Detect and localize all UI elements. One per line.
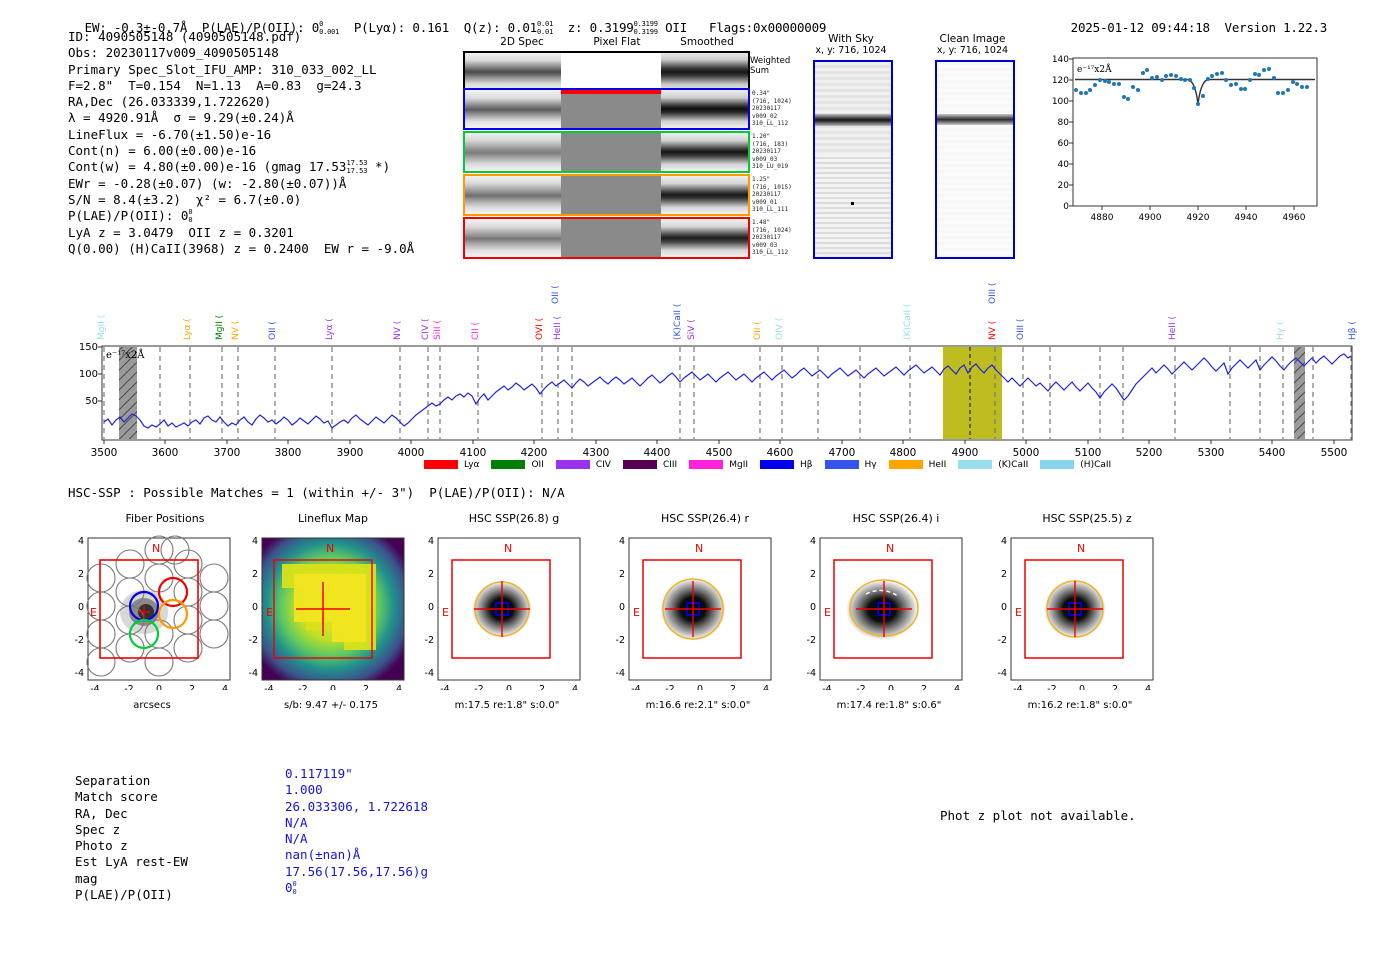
weighted-sum-label: Weighted Sum — [750, 56, 790, 76]
info-line-fwhm: F=2.8" T=0.154 N=1.13 A=0.83 g=24.3 — [68, 78, 468, 94]
svg-text:-4: -4 — [998, 668, 1007, 679]
svg-text:4: 4 — [572, 684, 578, 690]
i-compass-e: E — [824, 606, 831, 619]
fiber-2-date: 20230117 — [752, 191, 812, 199]
panel-4-title: HSC SSP(26.4) i — [806, 512, 986, 525]
info-line-cont-w: Cont(w) = 4.80(±0.00)e-16 (gmag 17.5317.… — [68, 159, 468, 175]
svg-text:-4: -4 — [807, 668, 816, 679]
svg-text:Lyα (: Lyα ( — [183, 318, 193, 340]
fiber-0-ifu: 310_LL_112 — [752, 120, 812, 128]
lm-compass-n: N — [326, 542, 334, 555]
title-smoothed: Smoothed — [667, 36, 747, 48]
fiber-3-date: 20230117 — [752, 234, 812, 242]
svg-text:3800: 3800 — [275, 447, 302, 459]
spectrum-yticks: 15010050 — [79, 342, 98, 407]
panel-4-caption: m:17.4 re:1.8" s:0.6" — [794, 700, 984, 711]
bottom-value-1: 1.000 — [285, 782, 428, 798]
panel-2-caption: m:17.5 re:1.8" s:0.0" — [412, 700, 602, 711]
cont-w-pre: Cont(w) = 4.80(±0.00)e-16 (gmag 17.53 — [68, 159, 346, 174]
svg-text:-2: -2 — [616, 635, 625, 646]
legend-swatch-heii — [889, 460, 923, 469]
svg-text:4: 4 — [396, 684, 402, 690]
panel-2-title: HSC SSP(26.8) g — [424, 512, 604, 525]
svg-text:Lyα (: Lyα ( — [325, 318, 335, 340]
fiber-1-obs: v009_03 — [752, 156, 812, 164]
svg-text:4: 4 — [222, 684, 228, 690]
fiber-positions-panel[interactable]: 420 -2-4 N E -4-20 24 — [62, 530, 242, 690]
cutout-1-title: Clean Image — [925, 33, 1020, 45]
svg-text:5500: 5500 — [1321, 447, 1348, 459]
fiber-row-1[interactable] — [463, 131, 750, 173]
svg-text:120: 120 — [1052, 76, 1069, 86]
svg-text:5100: 5100 — [1075, 447, 1102, 459]
panel-5-caption: m:16.2 re:1.8" s:0.0" — [985, 700, 1175, 711]
svg-text:0: 0 — [1063, 202, 1069, 212]
info-line-wavelength: λ = 4920.91Å σ = 9.29(±0.24)Å — [68, 110, 468, 126]
lm-yticks: 420 -2-4 — [249, 536, 258, 679]
fiber-positions-svg: 420 -2-4 N E -4-20 24 — [62, 530, 242, 690]
svg-text:-2: -2 — [124, 684, 133, 690]
svg-text:3600: 3600 — [152, 447, 179, 459]
svg-text:4: 4 — [1145, 684, 1151, 690]
svg-text:2: 2 — [730, 684, 736, 690]
svg-text:60: 60 — [1058, 139, 1070, 149]
svg-text:4940: 4940 — [1235, 213, 1258, 223]
fiber-3-smoothed — [661, 219, 748, 257]
svg-text:-2: -2 — [425, 635, 434, 646]
svg-text:OII (: OII ( — [551, 285, 561, 304]
bottom-value-7-wrap: 000 — [285, 880, 428, 896]
info-line-sn: S/N = 8.4(±3.2) χ² = 6.7(±0.0) — [68, 192, 468, 208]
fiber-1-2dspec — [465, 133, 561, 171]
svg-text:2: 2 — [363, 684, 369, 690]
line-legend: LyαOIICIVCIIIMgIIHβHγHeII(K)CaII(H)CaII — [424, 452, 984, 471]
svg-text:2: 2 — [1112, 684, 1118, 690]
cutout-1-coords: x, y: 716, 1024 — [925, 45, 1020, 56]
sky-source-dot — [851, 202, 854, 205]
r-compass-e: E — [633, 606, 640, 619]
legend-label-8: (K)CaII — [998, 460, 1028, 470]
legend-item-5: Hβ — [760, 460, 813, 471]
svg-text:CII (: CII ( — [471, 322, 481, 340]
svg-text:2: 2 — [539, 684, 545, 690]
title-pixel-flat: Pixel Flat — [577, 36, 657, 48]
svg-text:50: 50 — [85, 396, 98, 407]
fiber-2-obs: v009_01 — [752, 199, 812, 207]
info-line-q: Q(0.00) (H)CaII(3968) z = 0.2400 EW r = … — [68, 241, 468, 257]
bottom-label-4: Photo z — [75, 838, 188, 854]
g-xticks: -4-20 24 — [440, 684, 578, 690]
lf-xtickmarks — [1102, 206, 1294, 210]
line-fit-svg: 02040 6080100 120140 488049004920 494049… — [1035, 52, 1325, 232]
panel-3-title: HSC SSP(26.4) r — [615, 512, 795, 525]
legend-item-9: (H)CaII — [1040, 460, 1111, 471]
svg-text:Hγ (: Hγ ( — [1276, 322, 1286, 340]
bottom-value-2: 26.033306, 1.722618 — [285, 799, 428, 815]
z-yticks: 420 -2-4 — [998, 536, 1007, 679]
lineflux-map-panel[interactable]: 420 -2-4 N E -4-20 24 — [236, 530, 416, 690]
fiber-row-2[interactable] — [463, 174, 750, 216]
line-fit-plot[interactable]: 02040 6080100 120140 488049004920 494049… — [1035, 52, 1325, 232]
fiber-3-2dspec — [465, 219, 561, 257]
fiber-0-sep: 0.34" — [752, 90, 812, 98]
hsc-r-svg: 420 -2-4 N E -4-20 24 — [603, 530, 783, 690]
fiber-row-3[interactable] — [463, 217, 750, 259]
svg-text:MgII (: MgII ( — [215, 315, 225, 340]
svg-text:3700: 3700 — [214, 447, 241, 459]
cont-w-post: *) — [368, 159, 391, 174]
legend-item-0: Lyα — [424, 460, 479, 471]
svg-text:5000: 5000 — [1013, 447, 1040, 459]
svg-text:NV (: NV ( — [393, 321, 403, 340]
fp-compass-n: N — [152, 542, 160, 555]
svg-text:2: 2 — [428, 569, 434, 580]
legend-label-2: CIV — [596, 460, 611, 470]
legend-item-4: MgII — [689, 460, 748, 471]
info-plae-label: P(LAE)/P(OII): 0 — [68, 208, 188, 223]
bottom-label-6: mag — [75, 871, 188, 887]
fiber-2-pixelflat — [561, 176, 661, 214]
lf-xticks: 488049004920 49404960 — [1091, 213, 1306, 223]
info-line-id: ID: 4090505148 (4090505148.pdf) — [68, 29, 468, 45]
svg-text:-2: -2 — [1047, 684, 1056, 690]
fiber-0-flat-marker — [561, 90, 661, 94]
svg-text:NV (: NV ( — [231, 321, 241, 340]
header-qz: Q(z): 0.01 — [464, 20, 537, 35]
svg-text:4880: 4880 — [1091, 213, 1114, 223]
g-compass-e: E — [442, 606, 449, 619]
z-compass-n: N — [1077, 542, 1085, 555]
header-timestamp-block: 2025-01-12 09:44:18 Version 1.22.3 — [1056, 5, 1327, 35]
sky-trace — [815, 114, 891, 126]
fiber-0-obs: v009_02 — [752, 113, 812, 121]
fiber-row-2-right-labels: 1.25" (716, 1015) 20230117 v009_01 310_L… — [752, 176, 812, 214]
svg-text:3900: 3900 — [337, 447, 364, 459]
svg-text:0: 0 — [810, 602, 816, 613]
svg-text:4920: 4920 — [1187, 213, 1210, 223]
svg-text:100: 100 — [79, 369, 98, 380]
panel-0-caption: arcsecs — [62, 700, 242, 711]
r-yticks: 420 -2-4 — [616, 536, 625, 679]
fp-yticks: 420 -2-4 — [75, 536, 84, 679]
panel-3-caption: m:16.6 re:2.1" s:0.0" — [603, 700, 793, 711]
cutout-0-title: With Sky — [806, 33, 896, 45]
fp-xticks: -4-20 24 — [90, 684, 228, 690]
info-line-ewr: EWr = -0.28(±0.07) (w: -2.80(±0.07))Å — [68, 176, 468, 192]
fiber-1-smoothed — [661, 133, 748, 171]
svg-text:0: 0 — [78, 602, 84, 613]
svg-text:-2: -2 — [474, 684, 483, 690]
svg-text:4: 4 — [619, 536, 625, 547]
legend-label-5: Hβ — [800, 460, 813, 470]
bottom-value-0: 0.117119" — [285, 766, 428, 782]
cont-w-sub: 17.53 — [346, 167, 367, 175]
version-label: Version 1.22.3 — [1225, 20, 1328, 35]
svg-text:3500: 3500 — [91, 447, 118, 459]
svg-text:-4: -4 — [616, 668, 625, 679]
svg-text:HeII (: HeII ( — [1168, 316, 1178, 340]
svg-text:4: 4 — [954, 684, 960, 690]
fiber-0-date: 20230117 — [752, 105, 812, 113]
weighted-sum-pixelflat — [561, 53, 661, 91]
legend-item-3: CIII — [623, 460, 677, 471]
svg-text:-4: -4 — [90, 684, 99, 690]
svg-text:5200: 5200 — [1136, 447, 1163, 459]
svg-text:-2: -2 — [298, 684, 307, 690]
svg-text:4: 4 — [763, 684, 769, 690]
fiber-row-1-right-labels: 1.20" (716, 183) 20230117 v009_03 310_LU… — [752, 133, 812, 171]
bottom-label-5: Est LyA rest-EW — [75, 854, 188, 870]
svg-text:(K)CaII (: (K)CaII ( — [673, 304, 683, 340]
hsc-image-panel-g[interactable]: 420 -2-4 N E -4-20 24 — [412, 530, 592, 690]
timestamp: 2025-01-12 09:44:18 — [1071, 20, 1210, 35]
svg-text:OIII (: OIII ( — [988, 283, 998, 304]
svg-text:20: 20 — [1058, 181, 1070, 191]
fiber-3-sep: 1.48" — [752, 219, 812, 227]
fiber-0-xy: (716, 1024) — [752, 98, 812, 106]
fiber-row-0[interactable] — [463, 88, 750, 130]
svg-text:4: 4 — [428, 536, 434, 547]
legend-label-0: Lyα — [464, 460, 479, 470]
svg-text:5400: 5400 — [1259, 447, 1286, 459]
svg-text:(K)CaII (: (K)CaII ( — [903, 304, 913, 340]
z-compass-e: E — [1015, 606, 1022, 619]
svg-text:2: 2 — [619, 569, 625, 580]
i-galaxy — [846, 580, 918, 640]
info-line-radec: RA,Dec (26.033339,1.722620) — [68, 94, 468, 110]
svg-text:0: 0 — [330, 684, 336, 690]
fiber-3-pixelflat — [561, 219, 661, 257]
svg-text:2: 2 — [78, 569, 84, 580]
svg-text:OIII (: OIII ( — [1016, 319, 1026, 340]
i-yticks: 420 -2-4 — [807, 536, 816, 679]
bottom-value-5: nan(±nan)Å — [285, 847, 428, 863]
info-plae-sub: 0 — [188, 216, 192, 224]
weighted-sum-strip — [463, 51, 750, 93]
legend-item-1: OII — [491, 460, 543, 471]
header-z-sub: 0.3199 — [634, 28, 658, 36]
fiber-1-date: 20230117 — [752, 148, 812, 156]
fiber-1-pixelflat — [561, 133, 661, 171]
i-xticks: -4-20 24 — [822, 684, 960, 690]
bottom-label-0: Separation — [75, 773, 188, 789]
svg-text:4960: 4960 — [1283, 213, 1306, 223]
fiber-2-2dspec — [465, 176, 561, 214]
bottom-value-7: 0 — [285, 880, 293, 895]
g-compass-n: N — [504, 542, 512, 555]
svg-text:-4: -4 — [631, 684, 640, 690]
clean-noise — [937, 62, 1013, 257]
svg-text:2: 2 — [189, 684, 195, 690]
lineflux-svg: 420 -2-4 N E -4-20 24 — [236, 530, 416, 690]
lf-ytickmarks — [1069, 59, 1073, 206]
hsc-image-panel-z[interactable]: 420 -2-4 N E -4-20 24 — [985, 530, 1165, 690]
svg-text:0: 0 — [619, 602, 625, 613]
bottom-value-4: N/A — [285, 831, 428, 847]
svg-text:OVI (: OVI ( — [535, 318, 545, 340]
info-line-obs: Obs: 20230117v009_4090505148 — [68, 45, 468, 61]
i-compass-n: N — [886, 542, 894, 555]
info-line-lya-z: LyA z = 3.0479 OII z = 0.3201 — [68, 225, 468, 241]
svg-text:0: 0 — [506, 684, 512, 690]
lm-xticks: -4-20 24 — [264, 684, 402, 690]
g-yticks: 420 -2-4 — [425, 536, 434, 679]
svg-text:0: 0 — [428, 602, 434, 613]
svg-text:80: 80 — [1058, 118, 1070, 128]
bottom-label-3: Spec z — [75, 822, 188, 838]
fiber-2-smoothed — [661, 176, 748, 214]
svg-text:SiII (: SiII ( — [433, 320, 443, 340]
title-2d-spec: 2D Spec — [482, 36, 562, 48]
bottom-value-6: 17.56(17.56,17.56)g — [285, 864, 428, 880]
fiber-3-xy: (716, 1024) — [752, 227, 812, 235]
match-properties-labels: Separation Match score RA, Dec Spec z Ph… — [75, 773, 188, 903]
full-spectrum-plot[interactable]: MgII ( Lyα ( MgII ( NV ( OII ( Lyα ( NV … — [70, 270, 1360, 470]
legend-swatch-hbeta — [760, 460, 794, 469]
legend-item-6: Hγ — [825, 460, 877, 471]
z-xticks: -4-20 24 — [1013, 684, 1151, 690]
svg-text:5300: 5300 — [1198, 447, 1225, 459]
bottom-plae-sub: 0 — [293, 888, 297, 896]
legend-swatch-ciii — [623, 460, 657, 469]
fiber-2-xy: (716, 1015) — [752, 184, 812, 192]
svg-text:4: 4 — [78, 536, 84, 547]
svg-text:40: 40 — [1058, 160, 1070, 170]
info-line-lineflux: LineFlux = -6.70(±1.50)e-16 — [68, 127, 468, 143]
fiber-3-ifu: 310_LL_112 — [752, 249, 812, 257]
svg-text:OIV (: OIV ( — [775, 318, 785, 340]
svg-text:-2: -2 — [998, 635, 1007, 646]
fiber-2-ifu: 310_LL_111 — [752, 206, 812, 214]
band-detection-yellow — [943, 347, 1002, 439]
legend-label-6: Hγ — [865, 460, 877, 470]
info-line-primary-spec: Primary Spec_Slot_IFU_AMP: 310_033_002_L… — [68, 62, 468, 78]
panel-1-title: Lineflux Map — [248, 512, 418, 525]
spectrum-ytickmarks — [98, 347, 102, 401]
legend-label-3: CIII — [663, 460, 677, 470]
svg-text:0: 0 — [697, 684, 703, 690]
legend-swatch-hcaii — [1040, 460, 1074, 469]
svg-text:-2: -2 — [807, 635, 816, 646]
fiber-3-obs: v009_03 — [752, 242, 812, 250]
cutout-clean-image[interactable] — [935, 60, 1015, 259]
fiber-1-xy: (716, 183) — [752, 141, 812, 149]
bottom-value-3: N/A — [285, 815, 428, 831]
legend-item-7: HeII — [889, 460, 947, 471]
spectrum-xtickmarks — [104, 440, 1334, 444]
legend-label-9: (H)CaII — [1080, 460, 1111, 470]
legend-swatch-lya — [424, 460, 458, 469]
svg-text:4900: 4900 — [1139, 213, 1162, 223]
lf-yticks: 02040 6080100 120140 — [1052, 55, 1069, 212]
svg-text:-4: -4 — [440, 684, 449, 690]
fiber-0-pixelflat — [561, 90, 661, 128]
match-properties-values: 0.117119" 1.000 26.033306, 1.722618 N/A … — [285, 766, 428, 896]
svg-text:4: 4 — [1001, 536, 1007, 547]
photz-note: Phot z plot not available. — [940, 808, 1136, 823]
svg-text:0: 0 — [888, 684, 894, 690]
svg-text:-4: -4 — [264, 684, 273, 690]
legend-swatch-hgamma — [825, 460, 859, 469]
r-compass-n: N — [695, 542, 703, 555]
legend-item-2: CIV — [556, 460, 611, 471]
svg-text:0: 0 — [252, 602, 258, 613]
svg-text:0: 0 — [1079, 684, 1085, 690]
hsc-g-svg: 420 -2-4 N E -4-20 24 — [412, 530, 592, 690]
legend-swatch-mgii — [689, 460, 723, 469]
hsc-i-svg: 420 -2-4 N E -4-20 24 — [794, 530, 974, 690]
svg-text:NV (: NV ( — [988, 321, 998, 340]
panel-0-title: Fiber Positions — [75, 512, 255, 525]
svg-text:4: 4 — [810, 536, 816, 547]
svg-text:4: 4 — [252, 536, 258, 547]
svg-text:SiV (: SiV ( — [687, 319, 697, 340]
svg-text:Hβ (: Hβ ( — [1348, 321, 1358, 340]
svg-text:-2: -2 — [75, 635, 84, 646]
info-line-plae: P(LAE)/P(OII): 000 — [68, 208, 468, 224]
panel-1-caption: s/b: 9.47 +/- 0.175 — [236, 700, 426, 711]
spectrum-svg: MgII ( Lyα ( MgII ( NV ( OII ( Lyα ( NV … — [70, 270, 1360, 470]
bottom-label-2: RA, Dec — [75, 806, 188, 822]
spectrum-line-labels: MgII ( Lyα ( MgII ( NV ( OII ( Lyα ( NV … — [97, 283, 1358, 340]
svg-text:-4: -4 — [1013, 684, 1022, 690]
hsc-image-panel-r[interactable]: 420 -2-4 N E -4-20 24 — [603, 530, 783, 690]
spectrum-frame — [102, 346, 1352, 440]
lm-compass-e: E — [266, 606, 273, 619]
svg-text:-2: -2 — [856, 684, 865, 690]
fiber-2-sep: 1.25" — [752, 176, 812, 184]
bottom-label-1: Match score — [75, 789, 188, 805]
svg-text:100: 100 — [1052, 97, 1069, 107]
svg-text:0: 0 — [1001, 602, 1007, 613]
weighted-sum-smoothed — [661, 53, 748, 91]
r-xticks: -4-20 24 — [631, 684, 769, 690]
cutout-0-coords: x, y: 716, 1024 — [806, 45, 896, 56]
hsc-image-panel-i[interactable]: 420 -2-4 N E -4-20 24 — [794, 530, 974, 690]
svg-text:OII (: OII ( — [753, 321, 763, 340]
header-z: z: 0.3199 — [568, 20, 634, 35]
fiber-0-smoothed — [661, 90, 748, 128]
header-qz-sub: 0.01 — [537, 28, 553, 36]
svg-text:-4: -4 — [425, 668, 434, 679]
hsc-header: HSC-SSP : Possible Matches = 1 (within +… — [68, 485, 565, 500]
svg-text:150: 150 — [79, 342, 98, 353]
legend-label-7: HeII — [929, 460, 947, 470]
svg-text:OII (: OII ( — [268, 321, 278, 340]
svg-text:4000: 4000 — [398, 447, 425, 459]
cutout-with-sky[interactable] — [813, 60, 893, 259]
svg-text:2: 2 — [1001, 569, 1007, 580]
svg-text:CIV (: CIV ( — [421, 319, 431, 340]
header-z-type: OII — [665, 20, 687, 35]
legend-swatch-civ — [556, 460, 590, 469]
clean-trace — [937, 114, 1013, 125]
legend-label-4: MgII — [729, 460, 748, 470]
fiber-0-2dspec — [465, 90, 561, 128]
bottom-label-7: P(LAE)/P(OII) — [75, 887, 188, 903]
lf-annotation: e⁻¹⁷x2Å — [1077, 63, 1112, 75]
svg-text:MgII (: MgII ( — [97, 315, 107, 340]
panel-5-title: HSC SSP(25.5) z — [997, 512, 1177, 525]
detection-info-block: ID: 4090505148 (4090505148.pdf) Obs: 202… — [68, 29, 468, 257]
svg-text:-2: -2 — [249, 635, 258, 646]
spectrum-annotation: e⁻¹⁷x2Å — [106, 349, 145, 361]
fiber-1-sep: 1.20" — [752, 133, 812, 141]
svg-text:-2: -2 — [665, 684, 674, 690]
svg-text:140: 140 — [1052, 55, 1069, 65]
svg-text:HeII (: HeII ( — [553, 316, 563, 340]
svg-text:-4: -4 — [249, 668, 258, 679]
